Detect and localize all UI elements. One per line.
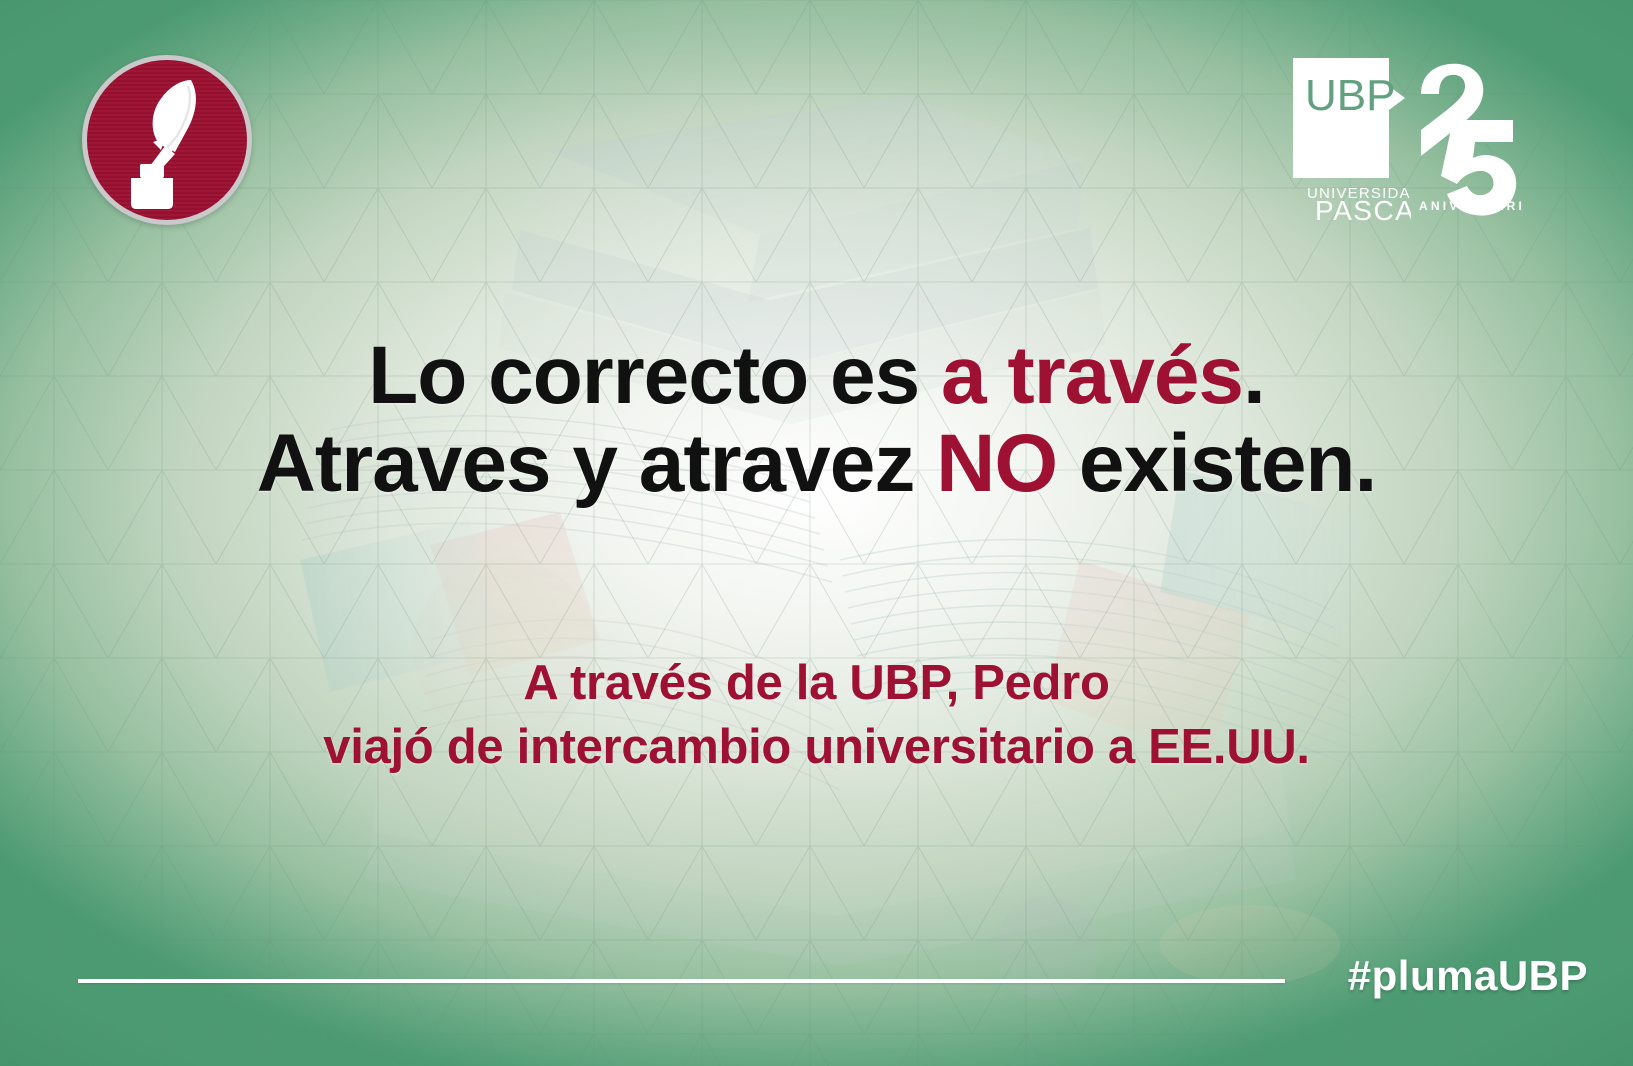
headline: Lo correcto es a través. Atraves y atrav… <box>0 332 1633 507</box>
headline-line-2: Atraves y atravez NO existen. <box>0 420 1633 508</box>
headline-line2-plain-b: existen. <box>1057 418 1376 509</box>
pluma-quill-badge <box>82 55 252 225</box>
anniversary-25-logo: ANIVERSARIO <box>1413 58 1523 223</box>
example-line-1: A través de la UBP, Pedro <box>0 652 1633 716</box>
headline-line1-plain: Lo correcto es <box>368 330 941 421</box>
footer-divider-rule <box>78 979 1285 983</box>
hashtag-plumaubp: #plumaUBP <box>1348 952 1588 1000</box>
example-sentence: A través de la UBP, Pedro viajó de inter… <box>0 652 1633 779</box>
ubp-mark-text: UBP <box>1305 71 1395 120</box>
headline-line2-plain-a: Atraves y atravez <box>257 418 936 509</box>
poster-canvas: UBP UNIVERSIDAD BLAS PASCAL ANIVERSARIO … <box>0 0 1633 1066</box>
ubp-logo-block: UBP UNIVERSIDAD BLAS PASCAL ANIVERSARIO <box>1293 58 1523 223</box>
headline-line-1: Lo correcto es a través. <box>0 332 1633 420</box>
anniversary-label: ANIVERSARIO <box>1419 199 1523 213</box>
ubp-name-line2: PASCAL <box>1315 195 1411 223</box>
ubp-logo-mark: UBP UNIVERSIDAD BLAS PASCAL <box>1293 58 1411 223</box>
headline-line1-tail: . <box>1243 330 1265 421</box>
example-line-2: viajó de intercambio universitario a EE.… <box>0 716 1633 780</box>
headline-line1-accent: a través <box>941 330 1243 421</box>
headline-line2-accent: NO <box>936 418 1057 509</box>
quill-pen-inkwell-icon <box>87 60 237 210</box>
